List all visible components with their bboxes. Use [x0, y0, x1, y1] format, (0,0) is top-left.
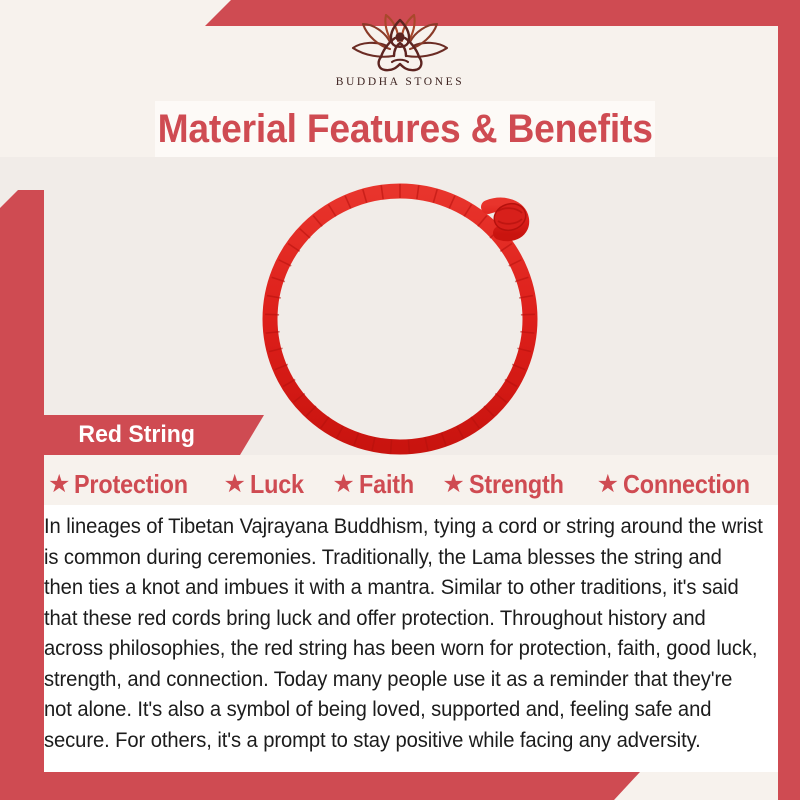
- decorative-left-bar: [0, 190, 44, 800]
- star-icon: ★: [224, 472, 246, 497]
- brand-header: BUDDHA STONES: [0, 0, 800, 100]
- product-name-banner: Red String: [26, 415, 264, 455]
- lotus-meditation-icon: [337, 12, 463, 74]
- brand-logo: BUDDHA STONES: [0, 12, 800, 88]
- benefit-label: Protection: [74, 469, 188, 500]
- description-text: In lineages of Tibetan Vajrayana Buddhis…: [44, 511, 765, 755]
- benefits-row: ★ Protection ★ Luck ★ Faith ★ Strength ★…: [48, 466, 764, 502]
- decorative-right-bar: [778, 0, 800, 800]
- benefit-label: Luck: [250, 469, 304, 500]
- benefit-item-strength: ★ Strength: [442, 469, 574, 500]
- product-name-label: Red String: [78, 421, 194, 449]
- benefit-label: Strength: [469, 469, 564, 500]
- infographic-page: BUDDHA STONES Material Features & Benefi…: [0, 0, 800, 800]
- decorative-bottom-bar: [0, 772, 640, 800]
- star-icon: ★: [332, 472, 354, 497]
- benefit-item-connection: ★ Connection: [597, 469, 764, 500]
- benefit-label: Connection: [623, 469, 750, 500]
- red-braided-bracelet-photo: [248, 167, 568, 457]
- benefit-label: Faith: [359, 469, 414, 500]
- star-icon: ★: [442, 472, 464, 497]
- brand-name: BUDDHA STONES: [336, 76, 464, 88]
- benefit-item-luck: ★ Luck: [224, 469, 310, 500]
- star-icon: ★: [597, 472, 619, 497]
- description-panel: In lineages of Tibetan Vajrayana Buddhis…: [44, 505, 778, 772]
- star-icon: ★: [48, 472, 70, 497]
- product-image-band: [0, 157, 800, 455]
- benefit-item-protection: ★ Protection: [48, 469, 201, 500]
- benefit-item-faith: ★ Faith: [332, 469, 420, 500]
- page-title: Material Features & Benefits: [157, 107, 652, 152]
- title-band: Material Features & Benefits: [155, 101, 655, 157]
